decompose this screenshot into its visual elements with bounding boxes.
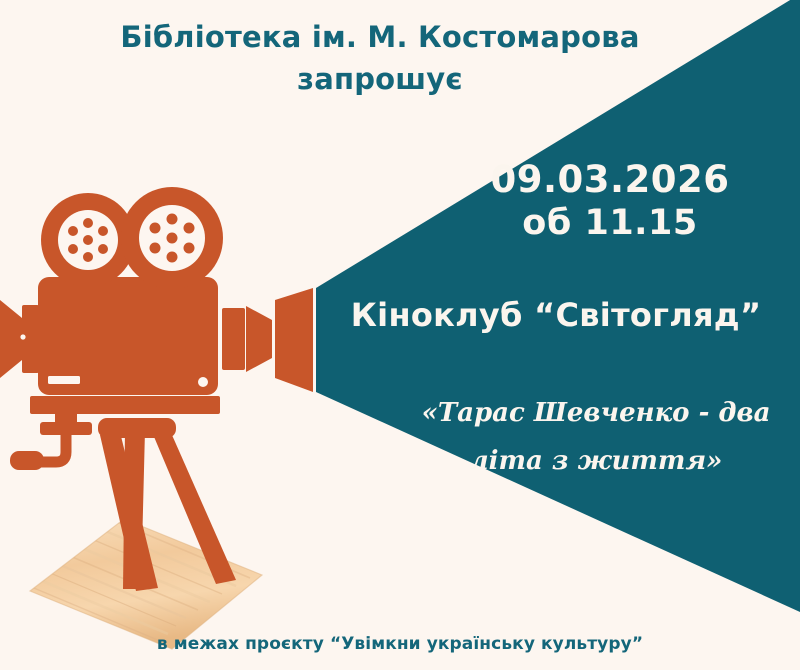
event-time: об 11.15 — [430, 202, 790, 246]
reel-right — [121, 187, 223, 289]
tripod-head — [98, 418, 176, 438]
event-date: 09.03.2026 — [430, 158, 790, 202]
poster-canvas: Бібліотека ім. М. Костомарова запрошує 0… — [0, 0, 800, 670]
film-title-line-2: літа з життя» — [400, 437, 792, 485]
lens-collar — [222, 308, 245, 370]
camera-body-label — [48, 376, 80, 384]
project-footnote: в межах проєкту “Увімкни українську куль… — [0, 634, 800, 654]
film-projector-illustration — [0, 0, 800, 670]
film-title: «Тарас Шевченко - два літа з життя» — [400, 389, 792, 485]
lens-cone — [222, 288, 313, 392]
lens-segment-2 — [275, 288, 313, 392]
film-title-line-1: «Тарас Шевченко - два — [400, 389, 792, 437]
camera-body-dot — [198, 377, 208, 387]
viewfinder — [0, 300, 39, 378]
lens-segment-1 — [246, 306, 272, 372]
club-title: Кіноклуб “Світогляд” — [320, 296, 792, 334]
crank-knob — [10, 451, 44, 470]
crank-handle — [40, 432, 66, 462]
invitation-word: запрошує — [0, 58, 760, 100]
library-name: Бібліотека ім. М. Костомарова — [0, 16, 760, 58]
header-block: Бібліотека ім. М. Костомарова запрошує — [0, 16, 760, 100]
event-datetime-block: 09.03.2026 об 11.15 — [430, 158, 790, 245]
reel-left — [41, 193, 135, 287]
